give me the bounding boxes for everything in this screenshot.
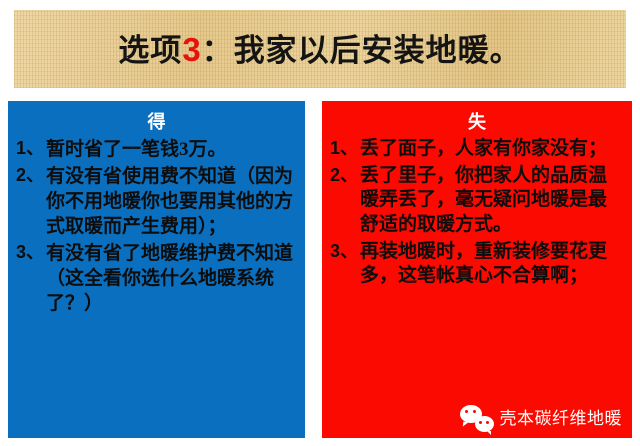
list-item-text: 暂时省了一笔钱3万。	[46, 137, 299, 162]
list-item-marker: 2、	[330, 164, 360, 187]
panel-gain-title: 得	[8, 113, 305, 131]
list-item: 2、 丢了里子，你把家人的品质温暖弄丢了，毫无疑问地暖是最舒适的取暖方式。	[330, 164, 626, 238]
list-item-text: 有没有省了地暖维护费不知道（这全看你选什么地暖系统了？）	[46, 241, 299, 316]
wechat-bubble-small	[475, 416, 494, 432]
page-title: 选项3：我家以后安装地暖。	[118, 33, 521, 66]
title-prefix: 选项	[118, 33, 182, 68]
title-option-number: 3	[182, 31, 201, 68]
list-item: 1、 暂时省了一笔钱3万。	[16, 137, 299, 162]
wechat-dot	[465, 410, 468, 413]
panel-gain: 得 1、 暂时省了一笔钱3万。 2、 有没有省使用费不知道（因为你不用地暖你也要…	[8, 101, 305, 438]
panel-loss: 失 1、 丢了面子，人家有你家没有； 2、 丢了里子，你把家人的品质温暖弄丢了，…	[322, 101, 632, 438]
slide-canvas: 选项3：我家以后安装地暖。 得 1、 暂时省了一笔钱3万。 2、 有没有省使用费…	[0, 0, 640, 446]
panel-loss-title: 失	[322, 113, 632, 131]
list-item: 2、 有没有省使用费不知道（因为你不用地暖你也要用其他的方式取暖而产生费用）；	[16, 164, 299, 239]
list-item-text: 丢了面子，人家有你家没有；	[360, 137, 626, 162]
list-item-marker: 1、	[330, 137, 360, 160]
list-item: 3、 有没有省了地暖维护费不知道（这全看你选什么地暖系统了？）	[16, 241, 299, 316]
header-banner: 选项3：我家以后安装地暖。	[14, 10, 626, 88]
brand-footer: 壳本碳纤维地暖	[460, 404, 623, 432]
brand-name: 壳本碳纤维地暖	[500, 410, 623, 427]
list-item: 3、 再装地暖时，重新装修要花更多，这笔帐真心不合算啊；	[330, 240, 626, 289]
panel-gain-list: 1、 暂时省了一笔钱3万。 2、 有没有省使用费不知道（因为你不用地暖你也要用其…	[8, 137, 305, 317]
title-colon: ：	[202, 33, 234, 68]
title-subject: 我家以后安装地暖。	[234, 33, 522, 68]
wechat-dot	[473, 410, 476, 413]
wechat-icon	[460, 404, 494, 432]
list-item-marker: 3、	[330, 240, 360, 263]
list-item-marker: 3、	[16, 241, 46, 265]
list-item-text: 有没有省使用费不知道（因为你不用地暖你也要用其他的方式取暖而产生费用）；	[46, 164, 299, 239]
list-item-marker: 1、	[16, 137, 46, 161]
list-item-text: 丢了里子，你把家人的品质温暖弄丢了，毫无疑问地暖是最舒适的取暖方式。	[360, 164, 626, 238]
list-item-marker: 2、	[16, 164, 46, 188]
list-item-text: 再装地暖时，重新装修要花更多，这笔帐真心不合算啊；	[360, 240, 626, 289]
wechat-dot	[486, 421, 489, 424]
wechat-dot	[479, 421, 482, 424]
panel-loss-list: 1、 丢了面子，人家有你家没有； 2、 丢了里子，你把家人的品质温暖弄丢了，毫无…	[322, 137, 632, 289]
list-item: 1、 丢了面子，人家有你家没有；	[330, 137, 626, 162]
